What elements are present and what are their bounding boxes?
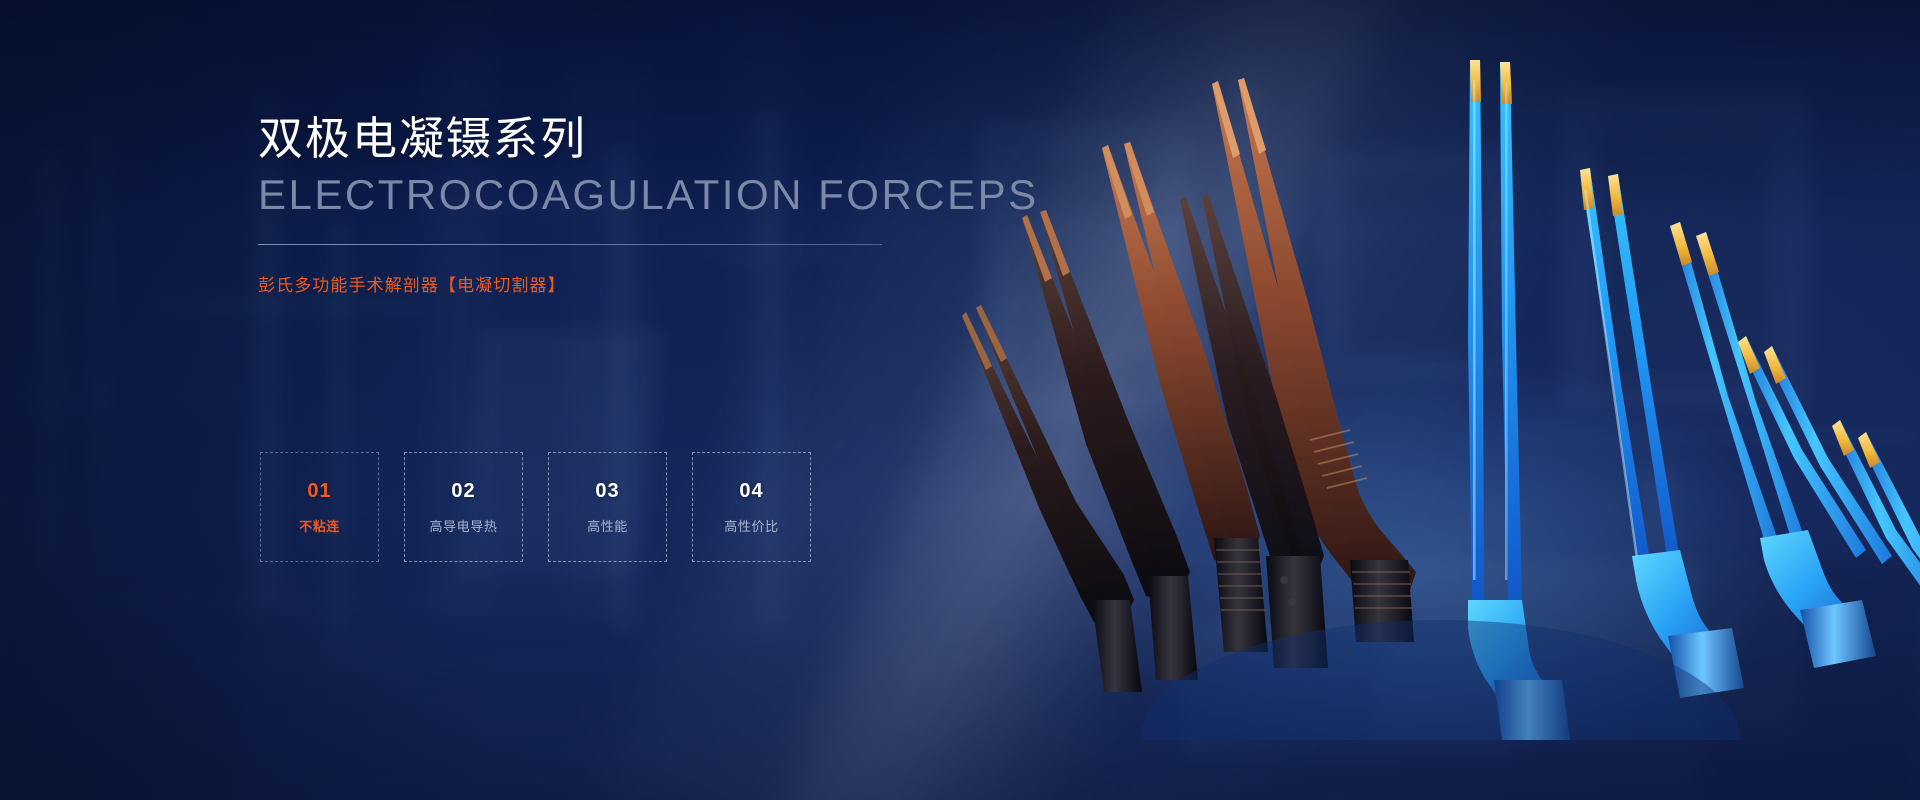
feature-item-04[interactable]: 04 高性价比 [692,452,811,562]
feature-number: 01 [307,480,331,503]
feature-item-02[interactable]: 02 高导电导热 [404,452,523,562]
product-hero-banner: 双极电凝镊系列 ELECTROCOAGULATION FORCEPS 彭氏多功能… [0,0,1920,800]
feature-list: 01 不粘连 02 高导电导热 03 高性能 04 高性价比 [260,452,811,562]
feature-number: 04 [739,480,763,503]
feature-label: 高导电导热 [429,516,497,535]
page-subtitle-english: ELECTROCOAGULATION FORCEPS [258,171,1158,218]
feature-number: 03 [595,480,619,503]
product-tagline: 彭氏多功能手术解剖器【电凝切割器】 [258,271,1158,296]
feature-item-01[interactable]: 01 不粘连 [260,452,379,562]
hero-text-block: 双极电凝镊系列 ELECTROCOAGULATION FORCEPS 彭氏多功能… [258,112,1158,296]
feature-label: 高性价比 [724,516,778,535]
feature-number: 02 [451,480,475,503]
divider [258,244,882,245]
feature-item-03[interactable]: 03 高性能 [548,452,667,562]
feature-label: 不粘连 [299,516,340,535]
page-title: 双极电凝镊系列 [258,112,1158,165]
feature-label: 高性能 [587,516,628,535]
